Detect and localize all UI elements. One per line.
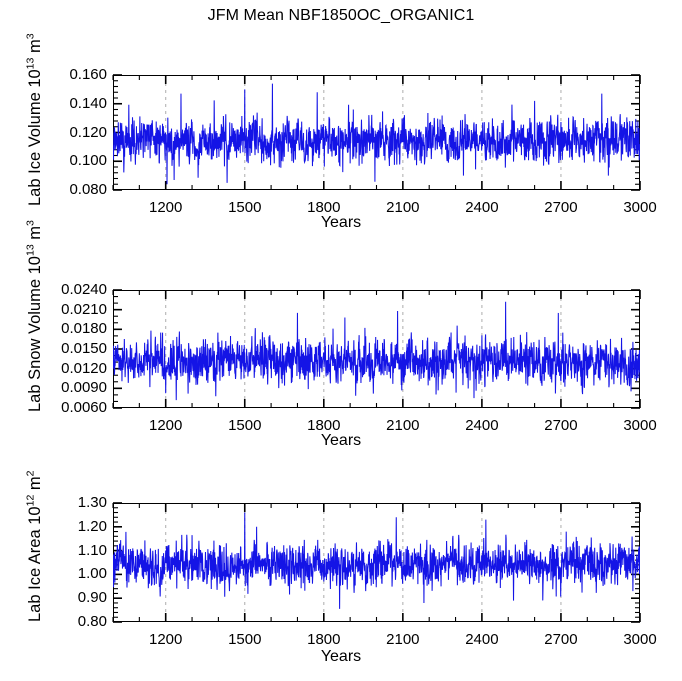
plot-canvas-panel-1 (99, 276, 654, 422)
y-tick-label: 0.080 (45, 181, 107, 198)
y-tick-label: 0.80 (45, 613, 107, 630)
x-tick-label: 2700 (531, 631, 591, 648)
y-tick-label: 0.140 (45, 95, 107, 112)
y-tick-label: 0.0120 (45, 360, 107, 377)
y-tick-label: 0.0210 (45, 301, 107, 318)
x-axis-label-panel-1: Years (0, 432, 682, 450)
x-tick-label: 3000 (610, 631, 670, 648)
y-axis-label-panel-1: Lab Snow Volume 1013 m3 (26, 220, 45, 412)
y-tick-label: 1.00 (45, 565, 107, 582)
y-tick-label: 0.0150 (45, 340, 107, 357)
x-tick-label: 1500 (215, 631, 275, 648)
x-axis-label-panel-2: Years (0, 648, 682, 666)
y-tick-label: 0.0180 (45, 320, 107, 337)
y-tick-label: 0.120 (45, 124, 107, 141)
y-tick-label: 0.160 (45, 66, 107, 83)
x-axis-label-panel-0: Years (0, 214, 682, 232)
plot-canvas-panel-0 (99, 61, 654, 204)
y-tick-label: 0.90 (45, 589, 107, 606)
figure-root: JFM Mean NBF1850OC_ORGANIC1 Lab Ice Volu… (0, 0, 682, 681)
y-tick-label: 1.30 (45, 494, 107, 511)
y-tick-label: 1.10 (45, 542, 107, 559)
y-tick-label: 0.100 (45, 152, 107, 169)
x-tick-label: 1200 (136, 631, 196, 648)
plot-canvas-panel-2 (99, 489, 654, 636)
y-axis-label-panel-0: Lab Ice Volume 1013 m3 (26, 33, 45, 206)
y-tick-label: 0.0060 (45, 399, 107, 416)
page-title: JFM Mean NBF1850OC_ORGANIC1 (0, 7, 682, 25)
y-tick-label: 1.20 (45, 518, 107, 535)
y-axis-label-panel-2: Lab Ice Area 1012 m2 (26, 470, 45, 622)
y-tick-label: 0.0090 (45, 379, 107, 396)
x-tick-label: 2400 (452, 631, 512, 648)
series-line-lab-snow-volume (113, 302, 640, 400)
x-tick-label: 2100 (373, 631, 433, 648)
x-tick-label: 1800 (294, 631, 354, 648)
y-tick-label: 0.0240 (45, 281, 107, 298)
